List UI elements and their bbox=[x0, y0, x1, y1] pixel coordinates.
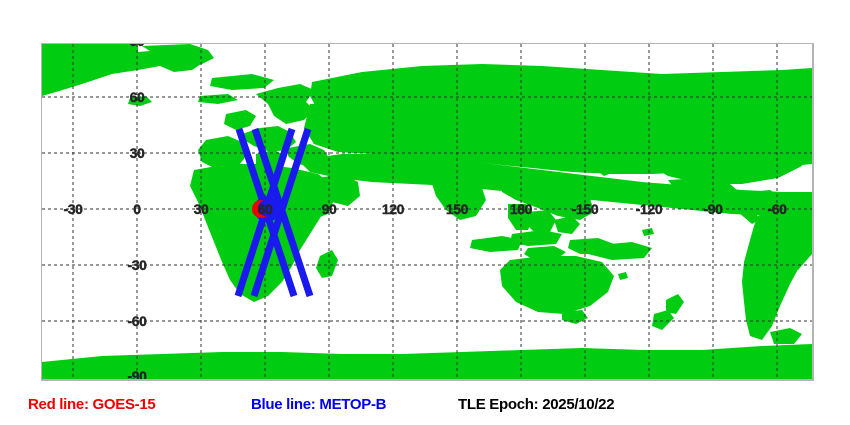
lon-label--120: -120 bbox=[636, 202, 662, 216]
lat-label--90: -90 bbox=[127, 369, 146, 381]
lon-label-0: 0 bbox=[133, 202, 140, 216]
legend-bar: Red line: GOES-15 Blue line: METOP-B TLE… bbox=[0, 396, 850, 420]
lon-label-150: 150 bbox=[446, 202, 468, 216]
lat-label-60: 60 bbox=[130, 90, 145, 104]
lon-label--90: -90 bbox=[703, 202, 722, 216]
lon-label--150: -150 bbox=[572, 202, 598, 216]
world-map-plot: -30 0 30 60 90 120 150 180 -150 -120 -90… bbox=[41, 43, 814, 381]
lat-label--30: -30 bbox=[127, 258, 146, 272]
lon-label-60: 60 bbox=[258, 202, 273, 216]
lat-label--60: -60 bbox=[127, 314, 146, 328]
legend-red-line: Red line: GOES-15 bbox=[28, 396, 155, 413]
lon-label-180: 180 bbox=[510, 202, 532, 216]
lon-label--60: -60 bbox=[767, 202, 786, 216]
ground-track-overlay bbox=[42, 44, 812, 379]
lat-label-90: 90 bbox=[130, 43, 145, 48]
lat-label-30: 30 bbox=[130, 146, 145, 160]
lon-label--30: -30 bbox=[63, 202, 82, 216]
satellite-ground-track-page: -30 0 30 60 90 120 150 180 -150 -120 -90… bbox=[0, 0, 850, 425]
lon-label-30: 30 bbox=[194, 202, 209, 216]
lon-label-120: 120 bbox=[382, 202, 404, 216]
legend-blue-line: Blue line: METOP-B bbox=[251, 396, 386, 413]
legend-tle-epoch: TLE Epoch: 2025/10/22 bbox=[458, 396, 614, 413]
lon-label-90: 90 bbox=[322, 202, 337, 216]
